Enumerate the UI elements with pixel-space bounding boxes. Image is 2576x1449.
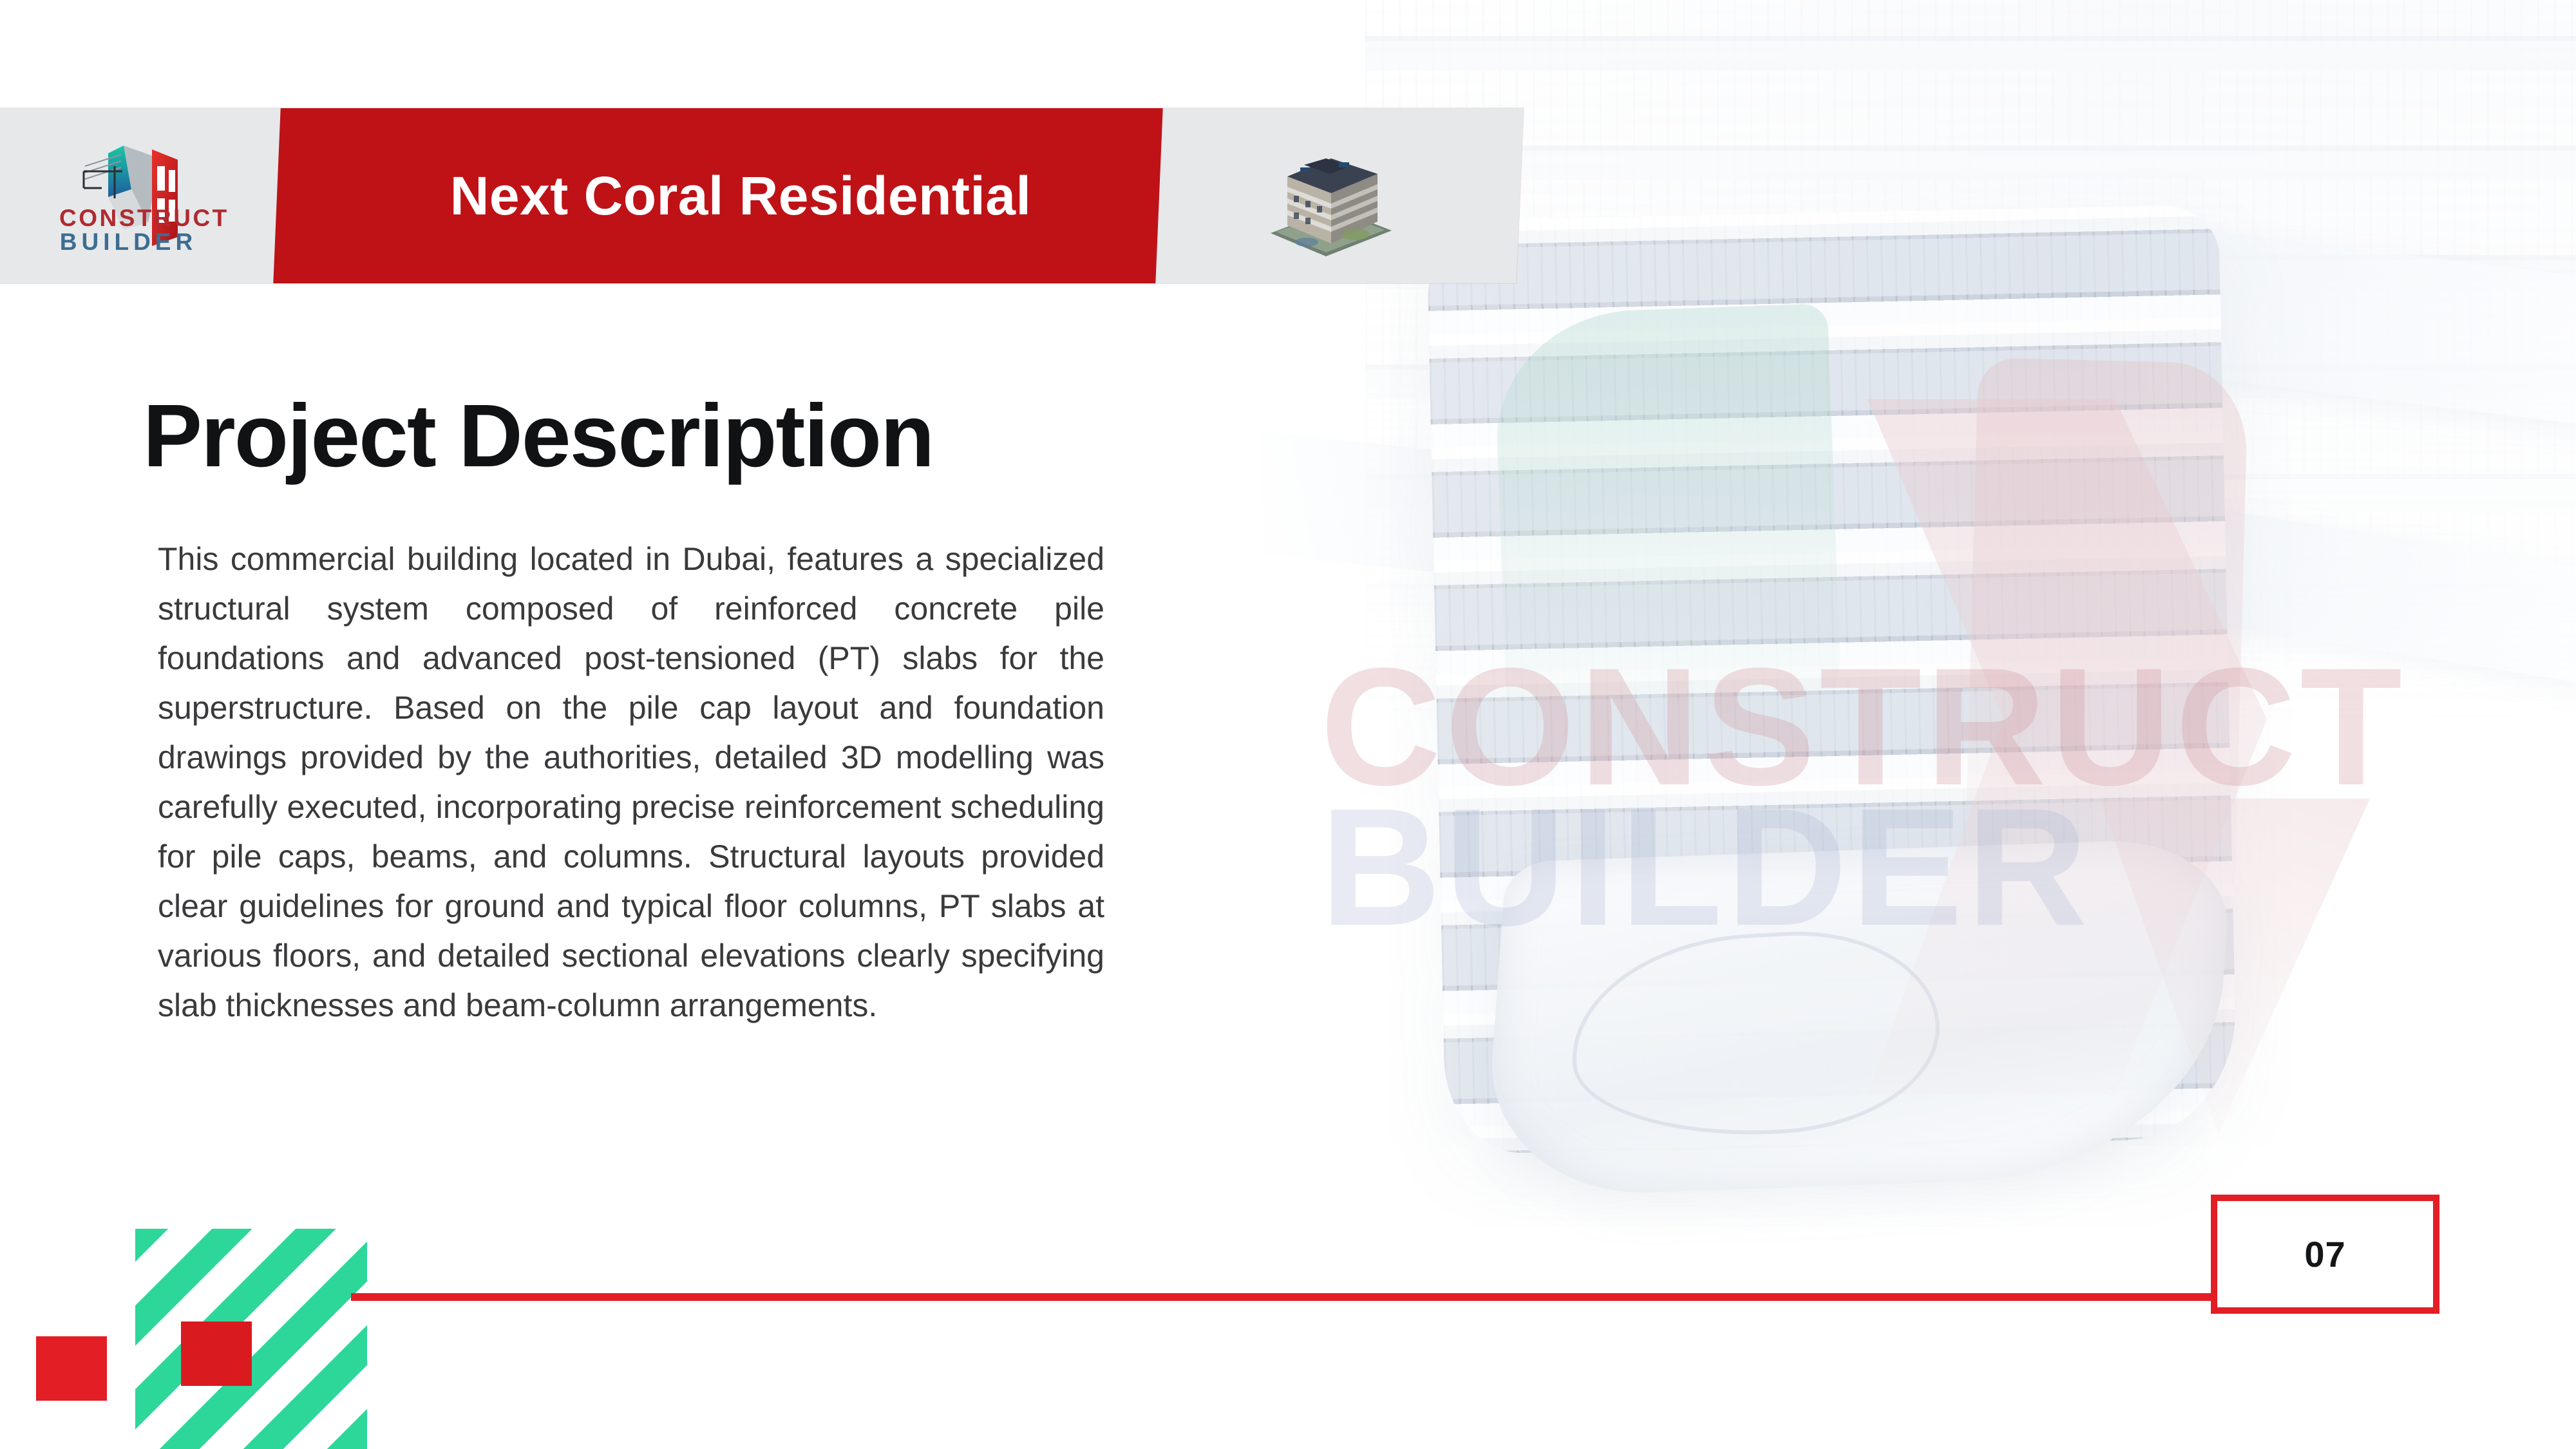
render-slab-wing-left (1261, 431, 1624, 592)
footer-red-rule (351, 1293, 2212, 1301)
background-tower-render (1365, 0, 2576, 734)
tower-thumbnail-icon (1259, 137, 1401, 259)
header-title: Next Coral Residential (361, 108, 1121, 283)
render-podium-pool (1566, 924, 1945, 1144)
logo-line-builder: BUILDER (59, 230, 198, 254)
logo-line-construct: CONSTRUCT (59, 206, 198, 230)
logo-wordmark: CONSTRUCT BUILDER (59, 206, 198, 254)
red-square-center (181, 1321, 252, 1386)
render-slab-wing-mid (2091, 489, 2576, 683)
hero-building-render (1426, 204, 2238, 1154)
residential-tower-thumbnail (1259, 137, 1401, 259)
glass-balcony-tint-pink (1963, 357, 2248, 944)
red-square-left (36, 1336, 107, 1401)
pink-arrow-overlay (1868, 399, 2267, 1095)
page-number: 07 (2304, 1233, 2345, 1275)
slide-root: CONSTRUCT BUILDER Next Coral Residential (0, 0, 2576, 1449)
construct-builder-logo[interactable]: CONSTRUCT BUILDER (52, 126, 245, 265)
watermark: CONSTRUCT BUILDER (1320, 657, 2415, 938)
watermark-line-1: CONSTRUCT (1320, 657, 2415, 797)
glass-balcony-tint-green (1493, 303, 1843, 766)
render-podium-slab (1482, 837, 2233, 1198)
project-description-body: This commercial building located in Duba… (158, 535, 1104, 1030)
page-title: Project Description (143, 385, 933, 488)
watermark-line-2: BUILDER (1320, 797, 2415, 938)
pink-arrow-overlay-secondary (2099, 799, 2370, 1133)
page-number-box: 07 (2211, 1195, 2439, 1314)
render-slab-wing-top (2058, 212, 2576, 426)
